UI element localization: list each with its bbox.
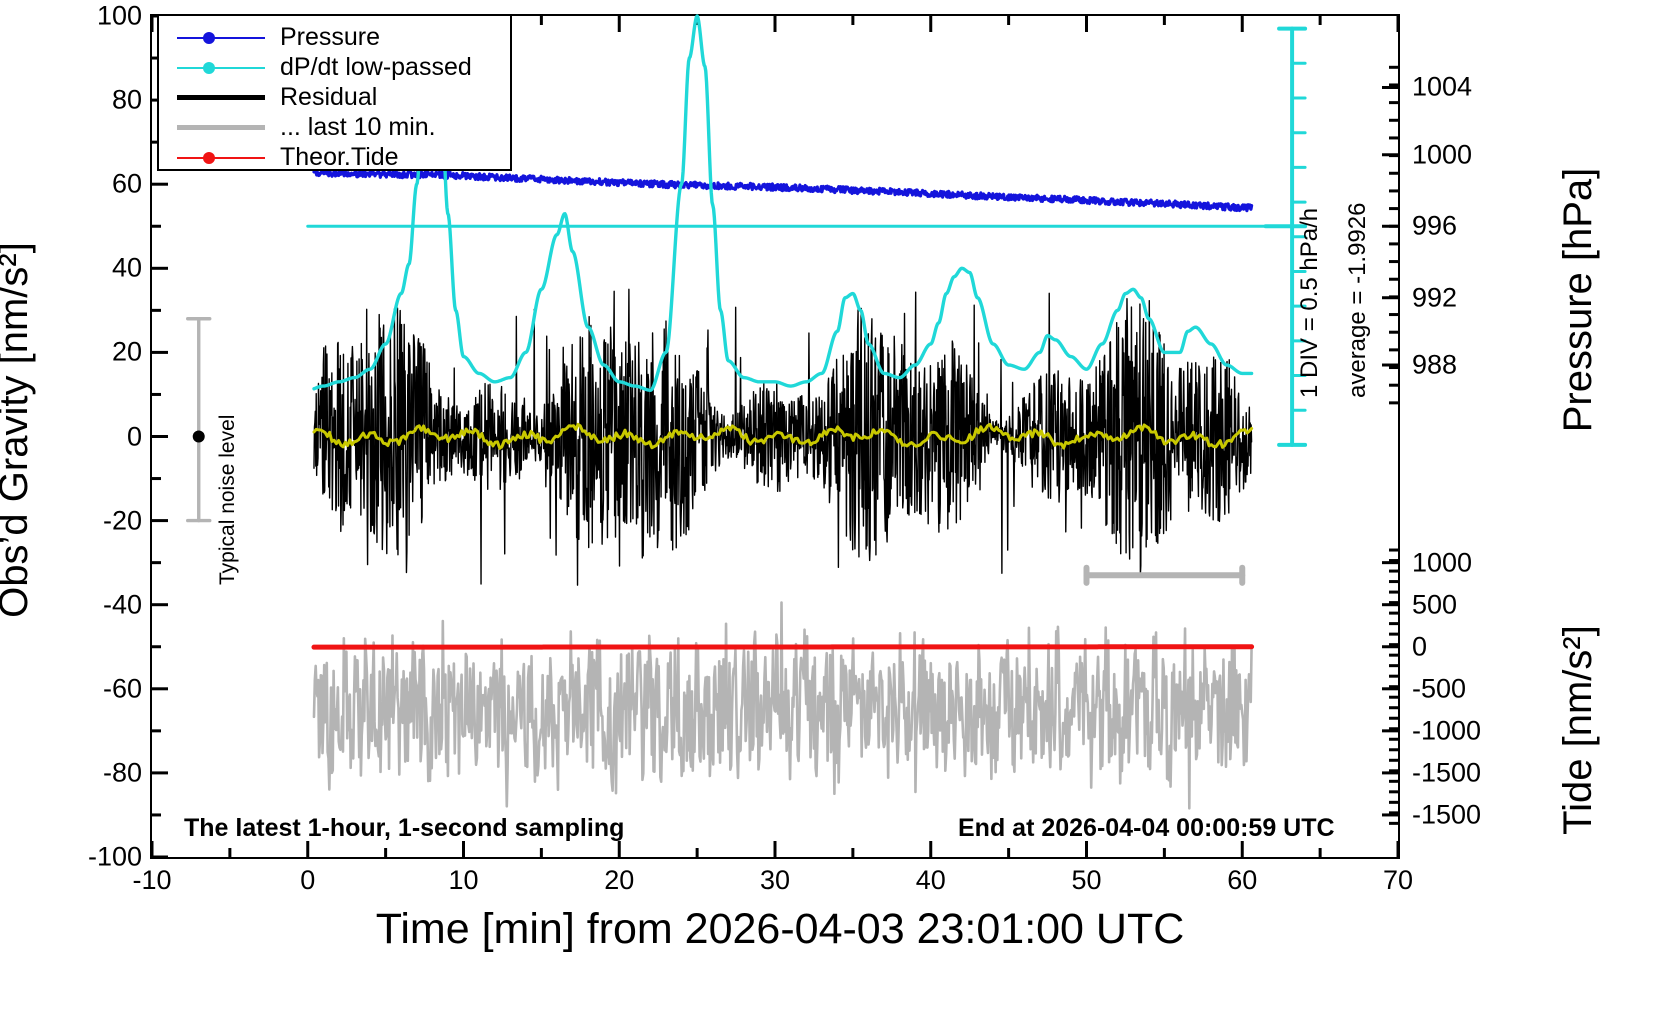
legend-item-1[interactable]: dP/dt low-passed [159,53,510,82]
last-10-min-series [314,603,1252,809]
chart-root: SCG_054 gravimeter Onsala Space Observat… [0,0,1660,1020]
legend-swatch-icon [173,157,268,159]
dpdt-average-note: average = -1.9926 [1344,203,1372,398]
legend-dot-icon [203,152,215,164]
legend: PressuredP/dt low-passedResidual... last… [157,14,512,171]
dpdt-scale-note: 1 DIV = 0.5 hPa/h [1296,208,1324,398]
legend-swatch-icon [173,125,268,130]
legend-item-label: Pressure [280,23,380,52]
legend-line-icon [177,125,265,130]
y-axis-left-title: Obs’d Gravity [nm/s²] [0,242,37,618]
noise-level-center-dot [193,431,205,443]
x-axis-title: Time [min] from 2026-04-03 23:01:00 UTC [376,905,1185,954]
y-axis-tick-label-left: 0 [72,421,142,452]
y-axis-tick-label-left: 80 [72,85,142,116]
bottom-left-note: The latest 1-hour, 1-second sampling [184,814,624,843]
x-axis-tick-label: 10 [448,865,478,896]
x-axis-tick-label: 40 [916,865,946,896]
legend-line-icon [177,37,265,39]
pressure-series [314,170,1252,210]
y-axis-pressure-tick-label: 1004 [1412,72,1472,103]
legend-line-icon [177,95,265,100]
x-axis-tick-label: 70 [1383,865,1413,896]
legend-swatch-icon [173,67,268,69]
y-axis-tide-tick-label: -500 [1412,673,1466,704]
legend-item-label: ... last 10 min. [280,113,436,142]
x-axis-tick-label: 50 [1071,865,1101,896]
y-axis-tick-label-left: 20 [72,337,142,368]
y-axis-pressure-tick-label: 988 [1412,350,1457,381]
legend-swatch-icon [173,37,268,39]
y-axis-tide-tick-label: -1500 [1412,757,1481,788]
y-axis-tick-label-left: 60 [72,169,142,200]
y-axis-tick-label-left: 100 [72,1,142,32]
legend-item-label: dP/dt low-passed [280,53,472,82]
x-axis-tick-label: 20 [604,865,634,896]
legend-item-label: Theor.Tide [280,143,399,172]
y-axis-tick-label-left: -80 [72,757,142,788]
legend-line-icon [177,67,265,69]
y-axis-tick-label-left: -40 [72,589,142,620]
bottom-right-note: End at 2026-04-04 00:00:59 UTC [958,814,1335,843]
noise-level-note: Typical noise level [216,415,240,585]
y-axis-tide-title: Tide [nm/s²] [1556,625,1601,835]
legend-line-icon [177,157,265,159]
y-axis-tide-tick-label: -1000 [1412,715,1481,746]
legend-dot-icon [203,62,215,74]
x-axis-tick-label: 60 [1227,865,1257,896]
y-axis-pressure-title: Pressure [hPa] [1556,168,1601,433]
x-axis-tick-label: 30 [760,865,790,896]
legend-swatch-icon [173,95,268,100]
y-axis-tick-label-left: -60 [72,673,142,704]
y-axis-pressure-tick-label: 1000 [1412,139,1472,170]
legend-item-label: Residual [280,83,377,112]
x-axis-tick-label: 0 [300,865,315,896]
legend-item-0[interactable]: Pressure [159,23,510,52]
legend-dot-icon [203,32,215,44]
y-axis-pressure-tick-label: 992 [1412,282,1457,313]
legend-item-4[interactable]: Theor.Tide [159,143,510,172]
legend-item-2[interactable]: Residual [159,83,510,112]
y-axis-tide-tick-label: 0 [1412,631,1427,662]
y-axis-tide-tick-label: -1500 [1412,799,1481,830]
y-axis-tide-tick-label: 500 [1412,589,1457,620]
x-axis-tick-label: -10 [132,865,171,896]
y-axis-tick-label-left: -20 [72,505,142,536]
legend-item-3[interactable]: ... last 10 min. [159,113,510,142]
y-axis-pressure-tick-label: 996 [1412,211,1457,242]
y-axis-tick-label-left: 40 [72,253,142,284]
y-axis-tide-tick-label: 1000 [1412,547,1472,578]
